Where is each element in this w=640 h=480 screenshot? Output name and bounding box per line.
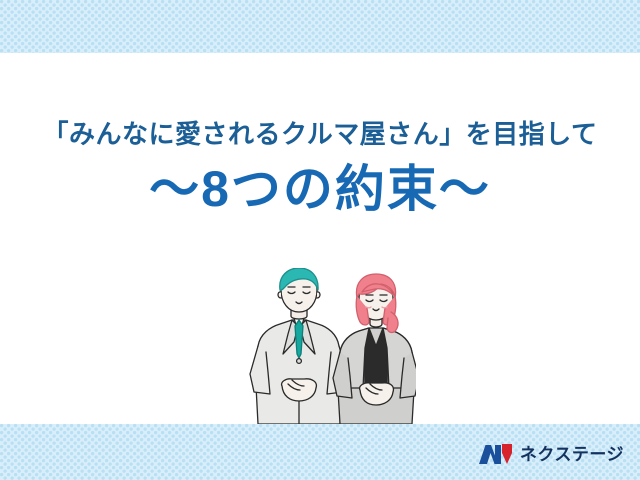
bowing-staff-illustration (236, 268, 416, 430)
female-staff-figure (333, 274, 416, 424)
headline-block: 「みんなに愛されるクルマ屋さん」を目指して 〜8つの約束〜 (0, 118, 640, 215)
slide-canvas: 「みんなに愛されるクルマ屋さん」を目指して 〜8つの約束〜 (0, 0, 640, 480)
nextage-n-mark-icon (479, 443, 513, 465)
brand-logo: ネクステージ (479, 440, 624, 468)
headline-secondary: 〜8つの約束〜 (0, 163, 640, 216)
headline-primary: 「みんなに愛されるクルマ屋さん」を目指して (0, 118, 640, 151)
male-staff-figure (250, 268, 347, 424)
brand-logo-text: ネクステージ (520, 446, 624, 463)
top-dot-band (0, 0, 640, 53)
